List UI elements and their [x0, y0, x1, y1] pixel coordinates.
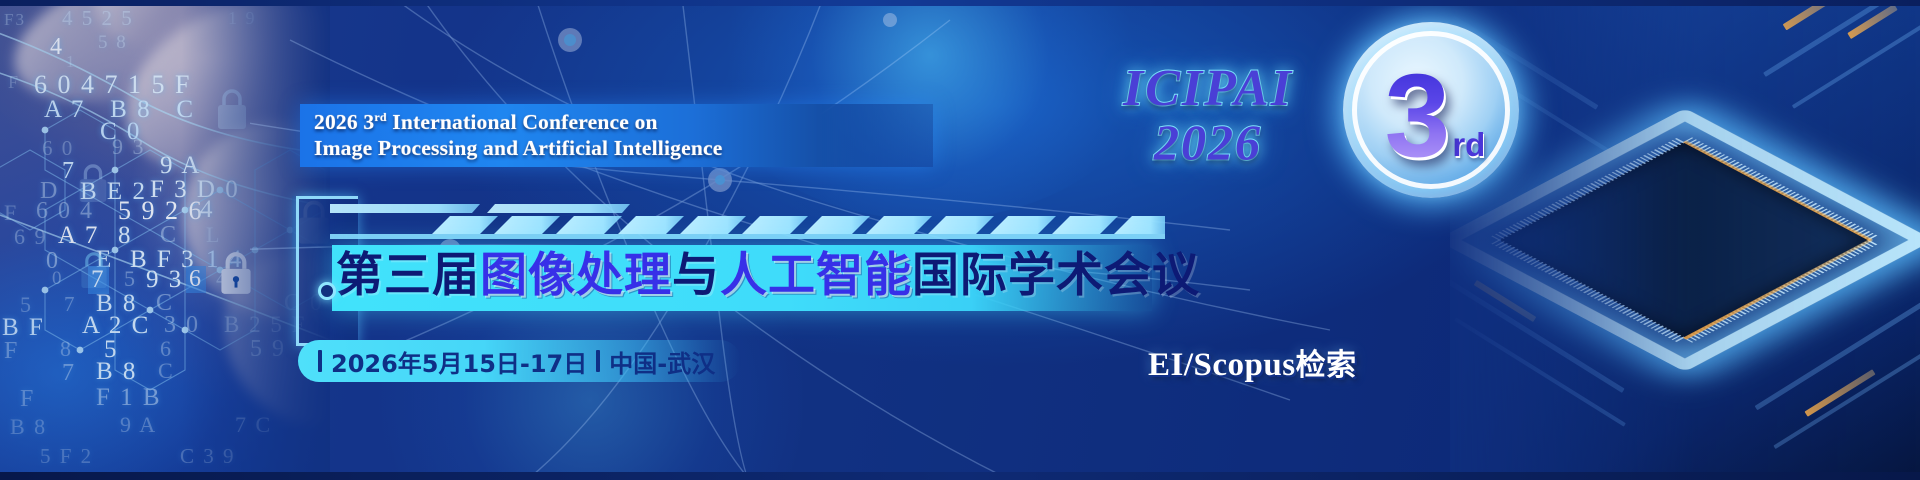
- chinese-title-seg2: 图像处理: [480, 248, 672, 303]
- edition-badge: 3 rd: [1343, 22, 1519, 198]
- bottom-trim-bar: [0, 472, 1920, 480]
- chinese-title-seg3: 与: [672, 248, 720, 303]
- conference-location: 中国-武汉: [609, 344, 715, 379]
- edition-ordinal: rd: [1452, 126, 1485, 164]
- english-title-plate: 2026 3rd International Conference on Ima…: [300, 104, 933, 167]
- indexing-latin: EI/Scopus: [1148, 347, 1296, 383]
- english-title-line1-rest: International Conference on: [387, 110, 658, 134]
- decorative-stripes: [330, 200, 1165, 240]
- acronym-text: ICIPAI: [1108, 62, 1308, 116]
- separator-bar-icon: [318, 350, 322, 372]
- chinese-title: 第三届图像处理与人工智能国际学术会议: [336, 243, 1200, 309]
- decorative-dot: [318, 282, 336, 300]
- top-trim-bar: [0, 0, 1920, 6]
- conference-banner: F3 4 5 2 5 4 5 8 1 9 1 F 6 0 4 7 1 5 F A…: [0, 0, 1920, 480]
- date-location-pill: 2026年5月15日-17日 中国-武汉: [298, 340, 741, 382]
- separator-bar-icon: [596, 350, 600, 372]
- indexing-chinese: 检索: [1296, 348, 1357, 383]
- english-title-line1-prefix: 2026 3: [314, 110, 374, 134]
- edition-number: 3: [1385, 60, 1451, 172]
- indexing-label: EI/Scopus检索: [1148, 340, 1357, 384]
- chinese-title-seg5: 国际学术会议: [912, 248, 1200, 303]
- chinese-title-seg4: 人工智能: [720, 248, 912, 303]
- acronym-year: 2026: [1108, 116, 1308, 168]
- conference-acronym-logo: ICIPAI 2026: [1108, 62, 1308, 168]
- chinese-title-seg1: 第三届: [336, 248, 480, 303]
- english-title-line1: 2026 3rd International Conference on: [314, 110, 658, 135]
- english-title-ordinal: rd: [374, 110, 386, 124]
- english-title-line2: Image Processing and Artificial Intellig…: [314, 136, 723, 161]
- conference-date: 2026年5月15日-17日: [331, 344, 587, 379]
- banner-content: 2026 3rd International Conference on Ima…: [0, 0, 1920, 480]
